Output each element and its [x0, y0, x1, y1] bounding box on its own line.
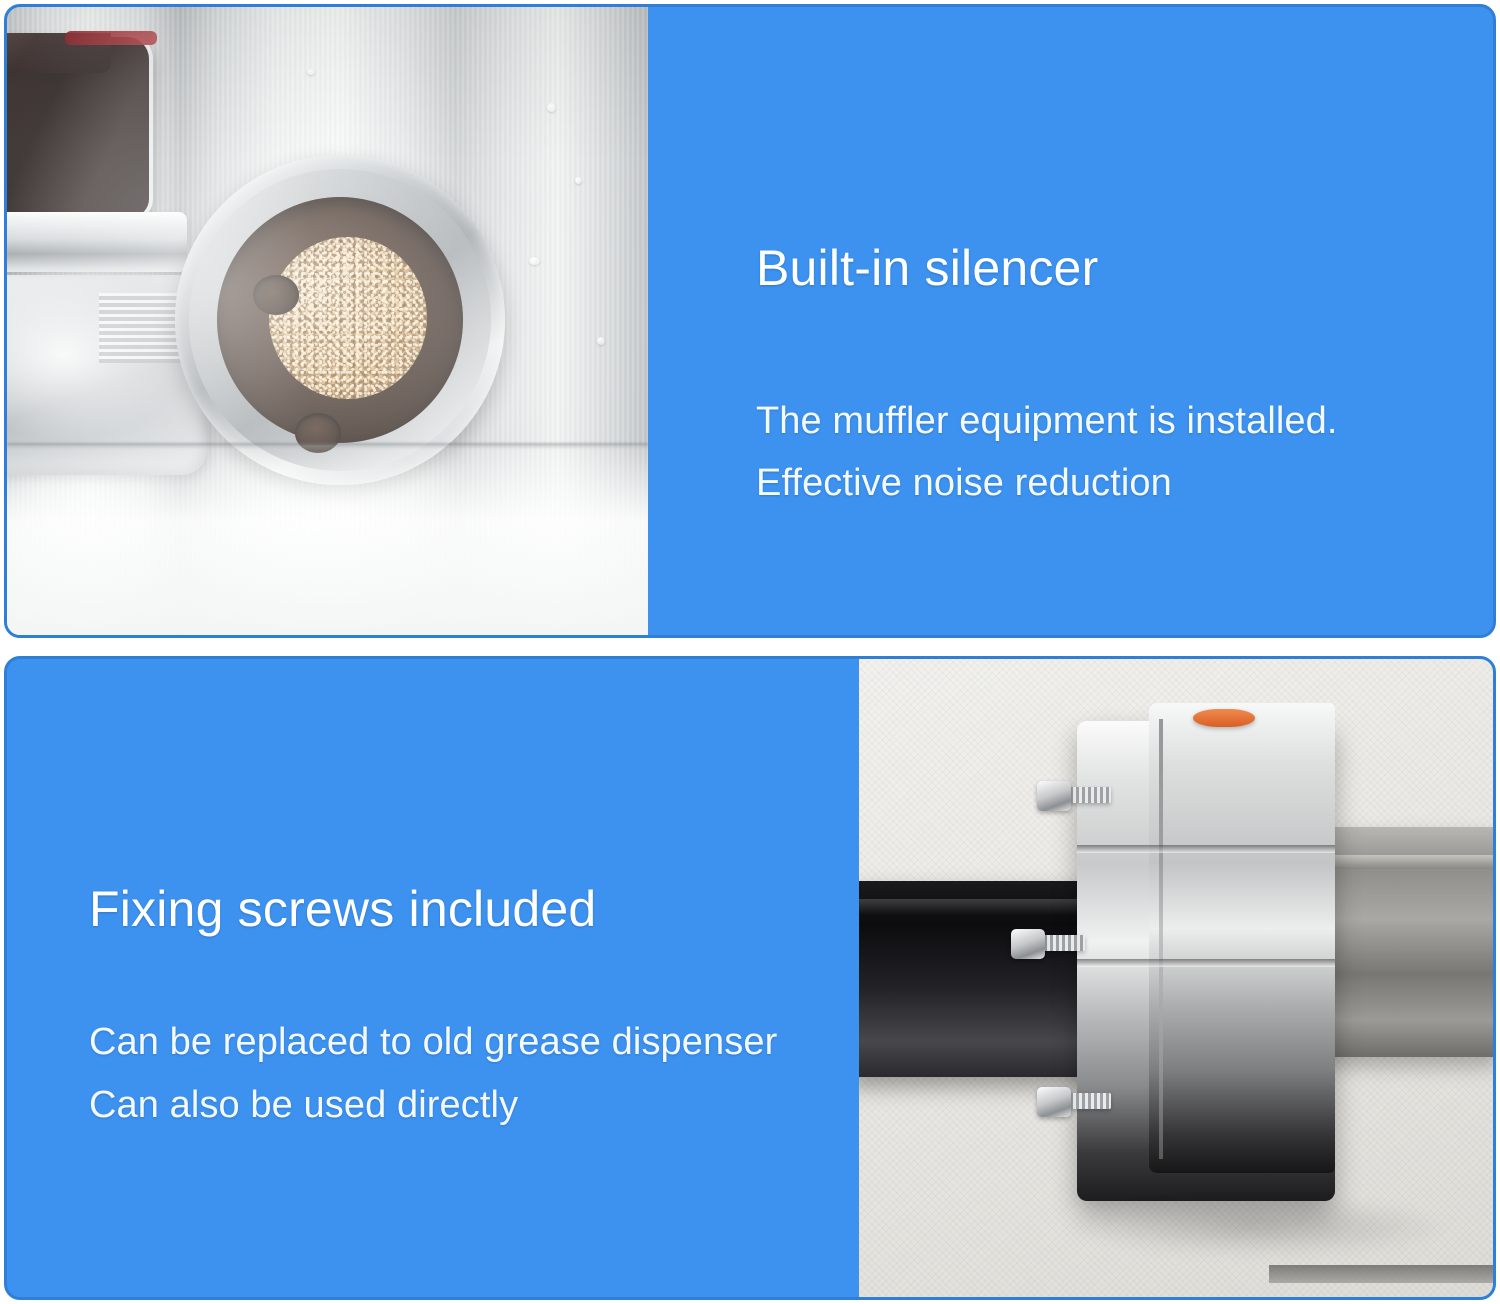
infographic-stage: Built-in silencer The muffler equipment … [0, 0, 1500, 1304]
panel-body-line-1: Can be replaced to old grease dispenser [89, 1021, 777, 1064]
flange-groove-lower [1077, 959, 1335, 967]
bolt-hex-head [1011, 929, 1045, 959]
panel-body-line-1: The muffler equipment is installed. [756, 400, 1338, 443]
panel-body-line-2: Can also be used directly [89, 1084, 518, 1127]
panel-headline-fixing-screws: Fixing screws included [89, 880, 596, 938]
panel-headline-silencer: Built-in silencer [756, 239, 1098, 297]
orange-cap [1193, 709, 1255, 727]
silencer-copy-block: Built-in silencer The muffler equipment … [648, 7, 1493, 635]
coupling-with-screws-photo [859, 659, 1493, 1297]
bolt-thread-shank [1067, 787, 1111, 803]
flange-groove-upper [1077, 845, 1335, 853]
bolt-hex-head [1037, 1087, 1071, 1117]
feature-panel-silencer: Built-in silencer The muffler equipment … [4, 4, 1496, 638]
bright-lower-body [7, 445, 648, 635]
bolt-hex-head [1037, 781, 1071, 811]
silencer-closeup-photo [7, 7, 648, 635]
fixing-screws-copy-block: Fixing screws included Can be replaced t… [7, 659, 865, 1297]
bolt-thread-shank [1067, 1093, 1111, 1109]
barrel-seam-line [1159, 719, 1163, 1159]
bolt-thread-shank [1041, 935, 1085, 951]
feature-panel-fixing-screws: Fixing screws included Can be replaced t… [4, 656, 1496, 1300]
housing-step-lower [1269, 1265, 1493, 1283]
aluminium-barrel-section [1149, 703, 1335, 1173]
contact-shadow [1059, 1197, 1453, 1257]
panel-body-line-2: Effective noise reduction [756, 462, 1172, 505]
